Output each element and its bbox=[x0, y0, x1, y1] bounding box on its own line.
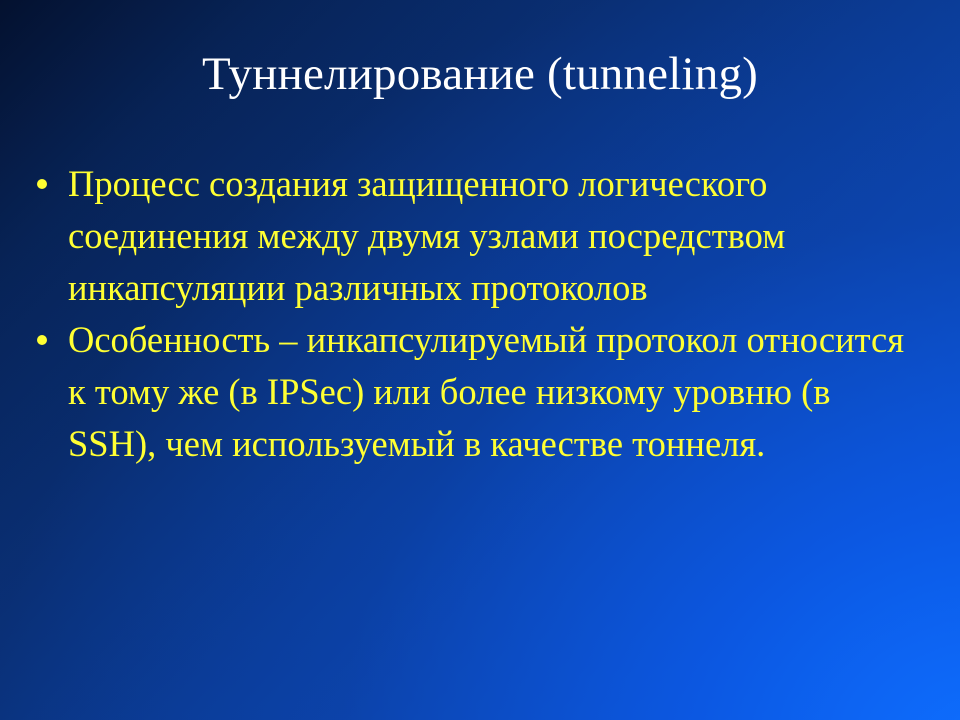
list-item-text: Процесс создания защищенного логического… bbox=[68, 158, 922, 314]
list-item-text: Особенность – инкапсулируемый протокол о… bbox=[68, 314, 922, 470]
slide-content: Туннелирование (tunneling) Процесс созда… bbox=[0, 0, 960, 720]
page-title: Туннелирование (tunneling) bbox=[0, 46, 960, 102]
bullet-point-icon bbox=[37, 179, 47, 189]
list-item: Процесс создания защищенного логического… bbox=[0, 158, 960, 314]
list-item: Особенность – инкапсулируемый протокол о… bbox=[0, 314, 960, 470]
bullet-point-icon bbox=[37, 335, 47, 345]
bullet-list: Процесс создания защищенного логического… bbox=[0, 158, 960, 470]
presentation-slide: Туннелирование (tunneling) Процесс созда… bbox=[0, 0, 960, 720]
